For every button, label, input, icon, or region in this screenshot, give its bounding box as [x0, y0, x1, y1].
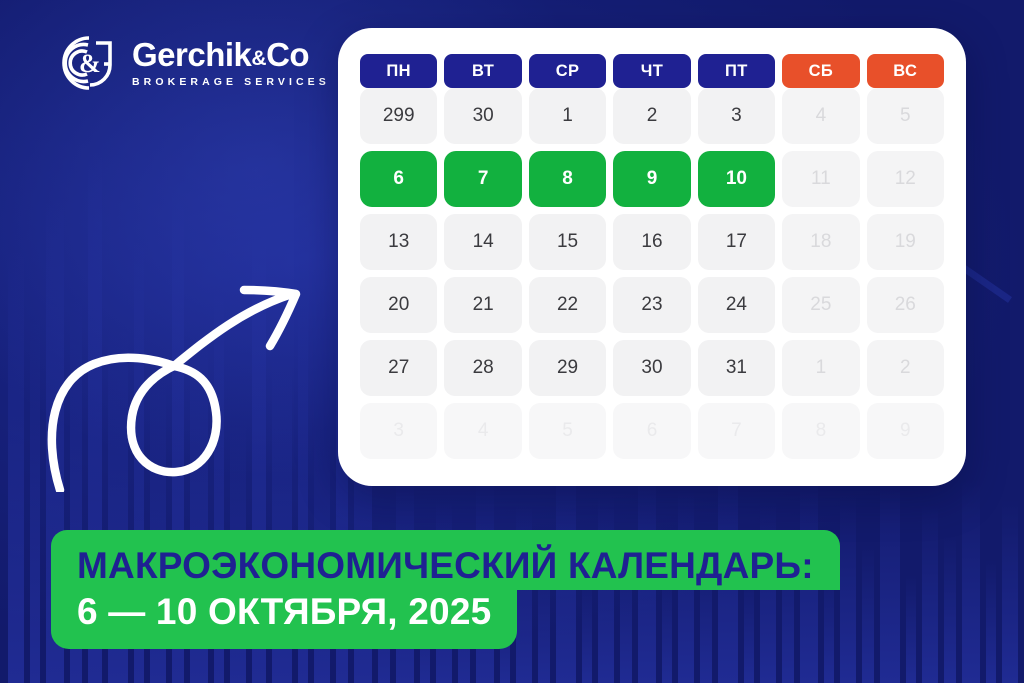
calendar-header-cell: ВС — [867, 54, 944, 88]
logo-brand-right: Co — [266, 36, 309, 73]
calendar-week-row: 2993012345 — [360, 88, 944, 144]
logo-brand-left: Gerchik — [132, 36, 251, 73]
calendar-day-cell[interactable]: 7 — [698, 403, 775, 459]
calendar-day-cell[interactable]: 12 — [867, 151, 944, 207]
calendar-day-cell[interactable]: 31 — [698, 340, 775, 396]
svg-text:&: & — [79, 49, 101, 78]
calendar-day-cell[interactable]: 30 — [444, 88, 521, 144]
calendar-header-cell: СБ — [782, 54, 859, 88]
calendar-week-row: 272829303112 — [360, 340, 944, 396]
calendar-week-row: 6789101112 — [360, 151, 944, 207]
calendar-day-cell[interactable]: 21 — [444, 277, 521, 333]
calendar-day-cell[interactable]: 3 — [698, 88, 775, 144]
calendar-day-cell[interactable]: 19 — [867, 214, 944, 270]
banner-line-2: 6 — 10 ОКТЯБРЯ, 2025 — [51, 589, 517, 649]
calendar-day-cell[interactable]: 2 — [613, 88, 690, 144]
calendar-day-cell[interactable]: 18 — [782, 214, 859, 270]
logo-tagline: BROKERAGE SERVICES — [132, 76, 330, 88]
calendar-day-cell[interactable]: 17 — [698, 214, 775, 270]
calendar-day-cell[interactable]: 299 — [360, 88, 437, 144]
calendar-day-cell-selected[interactable]: 10 — [698, 151, 775, 207]
calendar-grid: ПНВТСРЧТПТСБВС 2993012345678910111213141… — [360, 54, 944, 459]
calendar-day-cell[interactable]: 29 — [529, 340, 606, 396]
calendar-day-cell[interactable]: 4 — [444, 403, 521, 459]
calendar-day-cell[interactable]: 4 — [782, 88, 859, 144]
calendar-day-cell[interactable]: 13 — [360, 214, 437, 270]
calendar-day-cell[interactable]: 27 — [360, 340, 437, 396]
calendar-day-cell[interactable]: 14 — [444, 214, 521, 270]
calendar-day-cell[interactable]: 1 — [782, 340, 859, 396]
calendar-day-cell[interactable]: 8 — [782, 403, 859, 459]
calendar-card: ПНВТСРЧТПТСБВС 2993012345678910111213141… — [338, 28, 966, 486]
calendar-day-cell[interactable]: 24 — [698, 277, 775, 333]
calendar-header-row: ПНВТСРЧТПТСБВС — [360, 54, 944, 88]
calendar-day-cell[interactable]: 28 — [444, 340, 521, 396]
calendar-day-cell[interactable]: 26 — [867, 277, 944, 333]
calendar-week-row: 3456789 — [360, 403, 944, 459]
calendar-day-cell[interactable]: 3 — [360, 403, 437, 459]
title-banner: МАКРОЭКОНОМИЧЕСКИЙ КАЛЕНДАРЬ: 6 — 10 ОКТ… — [51, 530, 840, 649]
calendar-day-cell[interactable]: 16 — [613, 214, 690, 270]
calendar-day-cell[interactable]: 15 — [529, 214, 606, 270]
calendar-day-cell[interactable]: 20 — [360, 277, 437, 333]
logo-brand-ampersand: & — [251, 47, 266, 70]
brand-logo: & Gerchik&Co BROKERAGE SERVICES — [52, 33, 330, 93]
calendar-day-cell-selected[interactable]: 8 — [529, 151, 606, 207]
calendar-day-cell[interactable]: 11 — [782, 151, 859, 207]
banner-line-1: МАКРОЭКОНОМИЧЕСКИЙ КАЛЕНДАРЬ: — [51, 530, 840, 590]
calendar-day-cell[interactable]: 23 — [613, 277, 690, 333]
calendar-day-cell[interactable]: 25 — [782, 277, 859, 333]
calendar-header-cell: ПН — [360, 54, 437, 88]
calendar-day-cell[interactable]: 5 — [867, 88, 944, 144]
calendar-header-cell: ВТ — [444, 54, 521, 88]
calendar-day-cell-selected[interactable]: 9 — [613, 151, 690, 207]
calendar-day-cell[interactable]: 22 — [529, 277, 606, 333]
logo-brand-text: Gerchik&Co — [132, 38, 330, 72]
calendar-header-cell: ПТ — [698, 54, 775, 88]
logo-wordmark: Gerchik&Co BROKERAGE SERVICES — [132, 38, 330, 88]
calendar-week-row: 13141516171819 — [360, 214, 944, 270]
calendar-day-cell[interactable]: 30 — [613, 340, 690, 396]
calendar-weeks: 2993012345678910111213141516171819202122… — [360, 88, 944, 459]
calendar-day-cell[interactable]: 2 — [867, 340, 944, 396]
gerchik-monogram-icon: & — [52, 33, 118, 93]
calendar-day-cell[interactable]: 1 — [529, 88, 606, 144]
calendar-header-cell: СР — [529, 54, 606, 88]
calendar-day-cell-selected[interactable]: 7 — [444, 151, 521, 207]
calendar-day-cell[interactable]: 5 — [529, 403, 606, 459]
calendar-header-cell: ЧТ — [613, 54, 690, 88]
calendar-week-row: 20212223242526 — [360, 277, 944, 333]
calendar-day-cell-selected[interactable]: 6 — [360, 151, 437, 207]
calendar-day-cell[interactable]: 9 — [867, 403, 944, 459]
calendar-day-cell[interactable]: 6 — [613, 403, 690, 459]
